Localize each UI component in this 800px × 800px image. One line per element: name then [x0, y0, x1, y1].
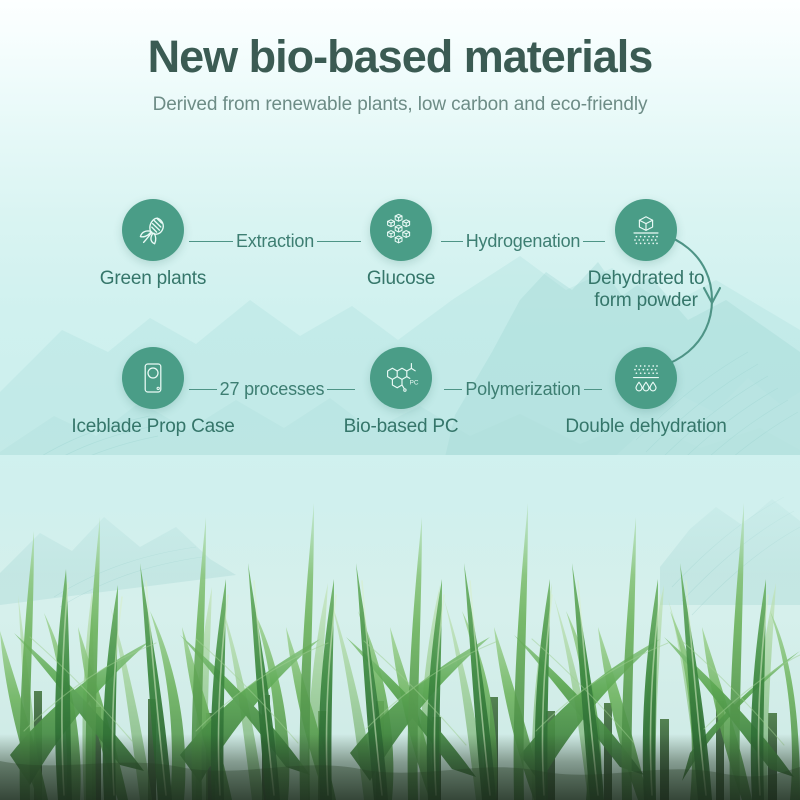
connector-label: Polymerization [462, 379, 583, 400]
node-icon-bubble: PC [370, 347, 432, 409]
connector-label: 27 processes [217, 379, 328, 400]
connector-27-processes: 27 processes [184, 378, 360, 400]
node-label: Double dehydration [536, 416, 756, 438]
connector-extraction: Extraction [184, 230, 366, 252]
molecule-pc-text: PC [410, 380, 419, 387]
connector-polymerization: Polymerization [434, 378, 612, 400]
node-icon-bubble [122, 347, 184, 409]
cube-powder-icon [628, 212, 664, 248]
node-label: Green plants [43, 268, 263, 290]
node-label: Bio-based PC [291, 416, 511, 438]
sugar-cubes-icon [382, 211, 420, 249]
sugarcane-field-photo [0, 455, 800, 800]
node-icon-bubble [122, 199, 184, 261]
node-label: Iceblade Prop Case [43, 416, 263, 438]
corn-icon [135, 212, 171, 248]
node-icon-bubble [370, 199, 432, 261]
connector-hydrogenation: Hydrogenation [430, 230, 616, 252]
connector-label: Hydrogenation [463, 231, 583, 252]
phone-case-icon [135, 360, 171, 396]
node-icon-bubble [615, 347, 677, 409]
connector-label: Extraction [233, 231, 317, 252]
process-flow-diagram: Extraction Hydrogenation [0, 0, 800, 520]
powder-droplets-icon [628, 360, 664, 396]
infographic-canvas: New bio-based materials Derived from ren… [0, 0, 800, 800]
sugarcane-blades [0, 455, 800, 800]
node-label: Dehydrated to form powder [536, 268, 756, 312]
node-label: Glucose [291, 268, 511, 290]
node-icon-bubble [615, 199, 677, 261]
molecule-pc-icon: PC [382, 359, 420, 397]
